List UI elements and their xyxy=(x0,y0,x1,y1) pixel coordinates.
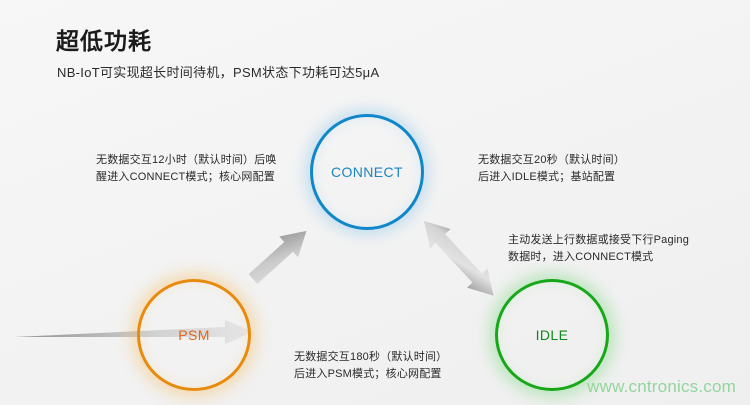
site-watermark: www.cntronics.com xyxy=(587,377,736,397)
edge-caption-line: 后进入IDLE模式；基站配置 xyxy=(478,169,625,186)
slide-canvas: 超低功耗 NB-IoT可实现超长时间待机，PSM状态下功耗可达5μA xyxy=(0,0,750,405)
edge-caption-line: 无数据交互20秒（默认时间） xyxy=(478,152,625,169)
arrow-connect-idle-double xyxy=(414,211,504,305)
edge-caption-line: 无数据交互180秒（默认时间） xyxy=(294,349,447,366)
state-node-psm-label: PSM xyxy=(178,327,210,343)
state-node-connect-label: CONNECT xyxy=(331,164,403,180)
edge-caption-idle-to-psm: 无数据交互180秒（默认时间） 后进入PSM模式；核心网配置 xyxy=(294,349,447,383)
state-node-connect[interactable]: CONNECT xyxy=(310,114,424,230)
edge-caption-idle-to-connect: 主动发送上行数据或接受下行Paging 数据时，进入CONNECT模式 xyxy=(508,232,689,266)
arrow-psm-to-connect xyxy=(244,220,316,289)
edge-caption-connect-to-idle: 无数据交互20秒（默认时间） 后进入IDLE模式；基站配置 xyxy=(478,152,625,186)
edge-caption-line: 数据时，进入CONNECT模式 xyxy=(508,249,689,266)
edge-caption-line: 无数据交互12小时（默认时间）后唤 xyxy=(96,152,277,169)
state-node-psm[interactable]: PSM xyxy=(137,279,251,391)
edge-caption-line: 后进入PSM模式；核心网配置 xyxy=(294,366,447,383)
state-node-idle[interactable]: IDLE xyxy=(495,279,609,391)
state-node-idle-label: IDLE xyxy=(536,327,569,343)
edge-caption-line: 主动发送上行数据或接受下行Paging xyxy=(508,232,689,249)
edge-caption-line: 醒进入CONNECT模式；核心网配置 xyxy=(96,169,277,186)
edge-caption-psm-to-connect: 无数据交互12小时（默认时间）后唤 醒进入CONNECT模式；核心网配置 xyxy=(96,152,277,186)
